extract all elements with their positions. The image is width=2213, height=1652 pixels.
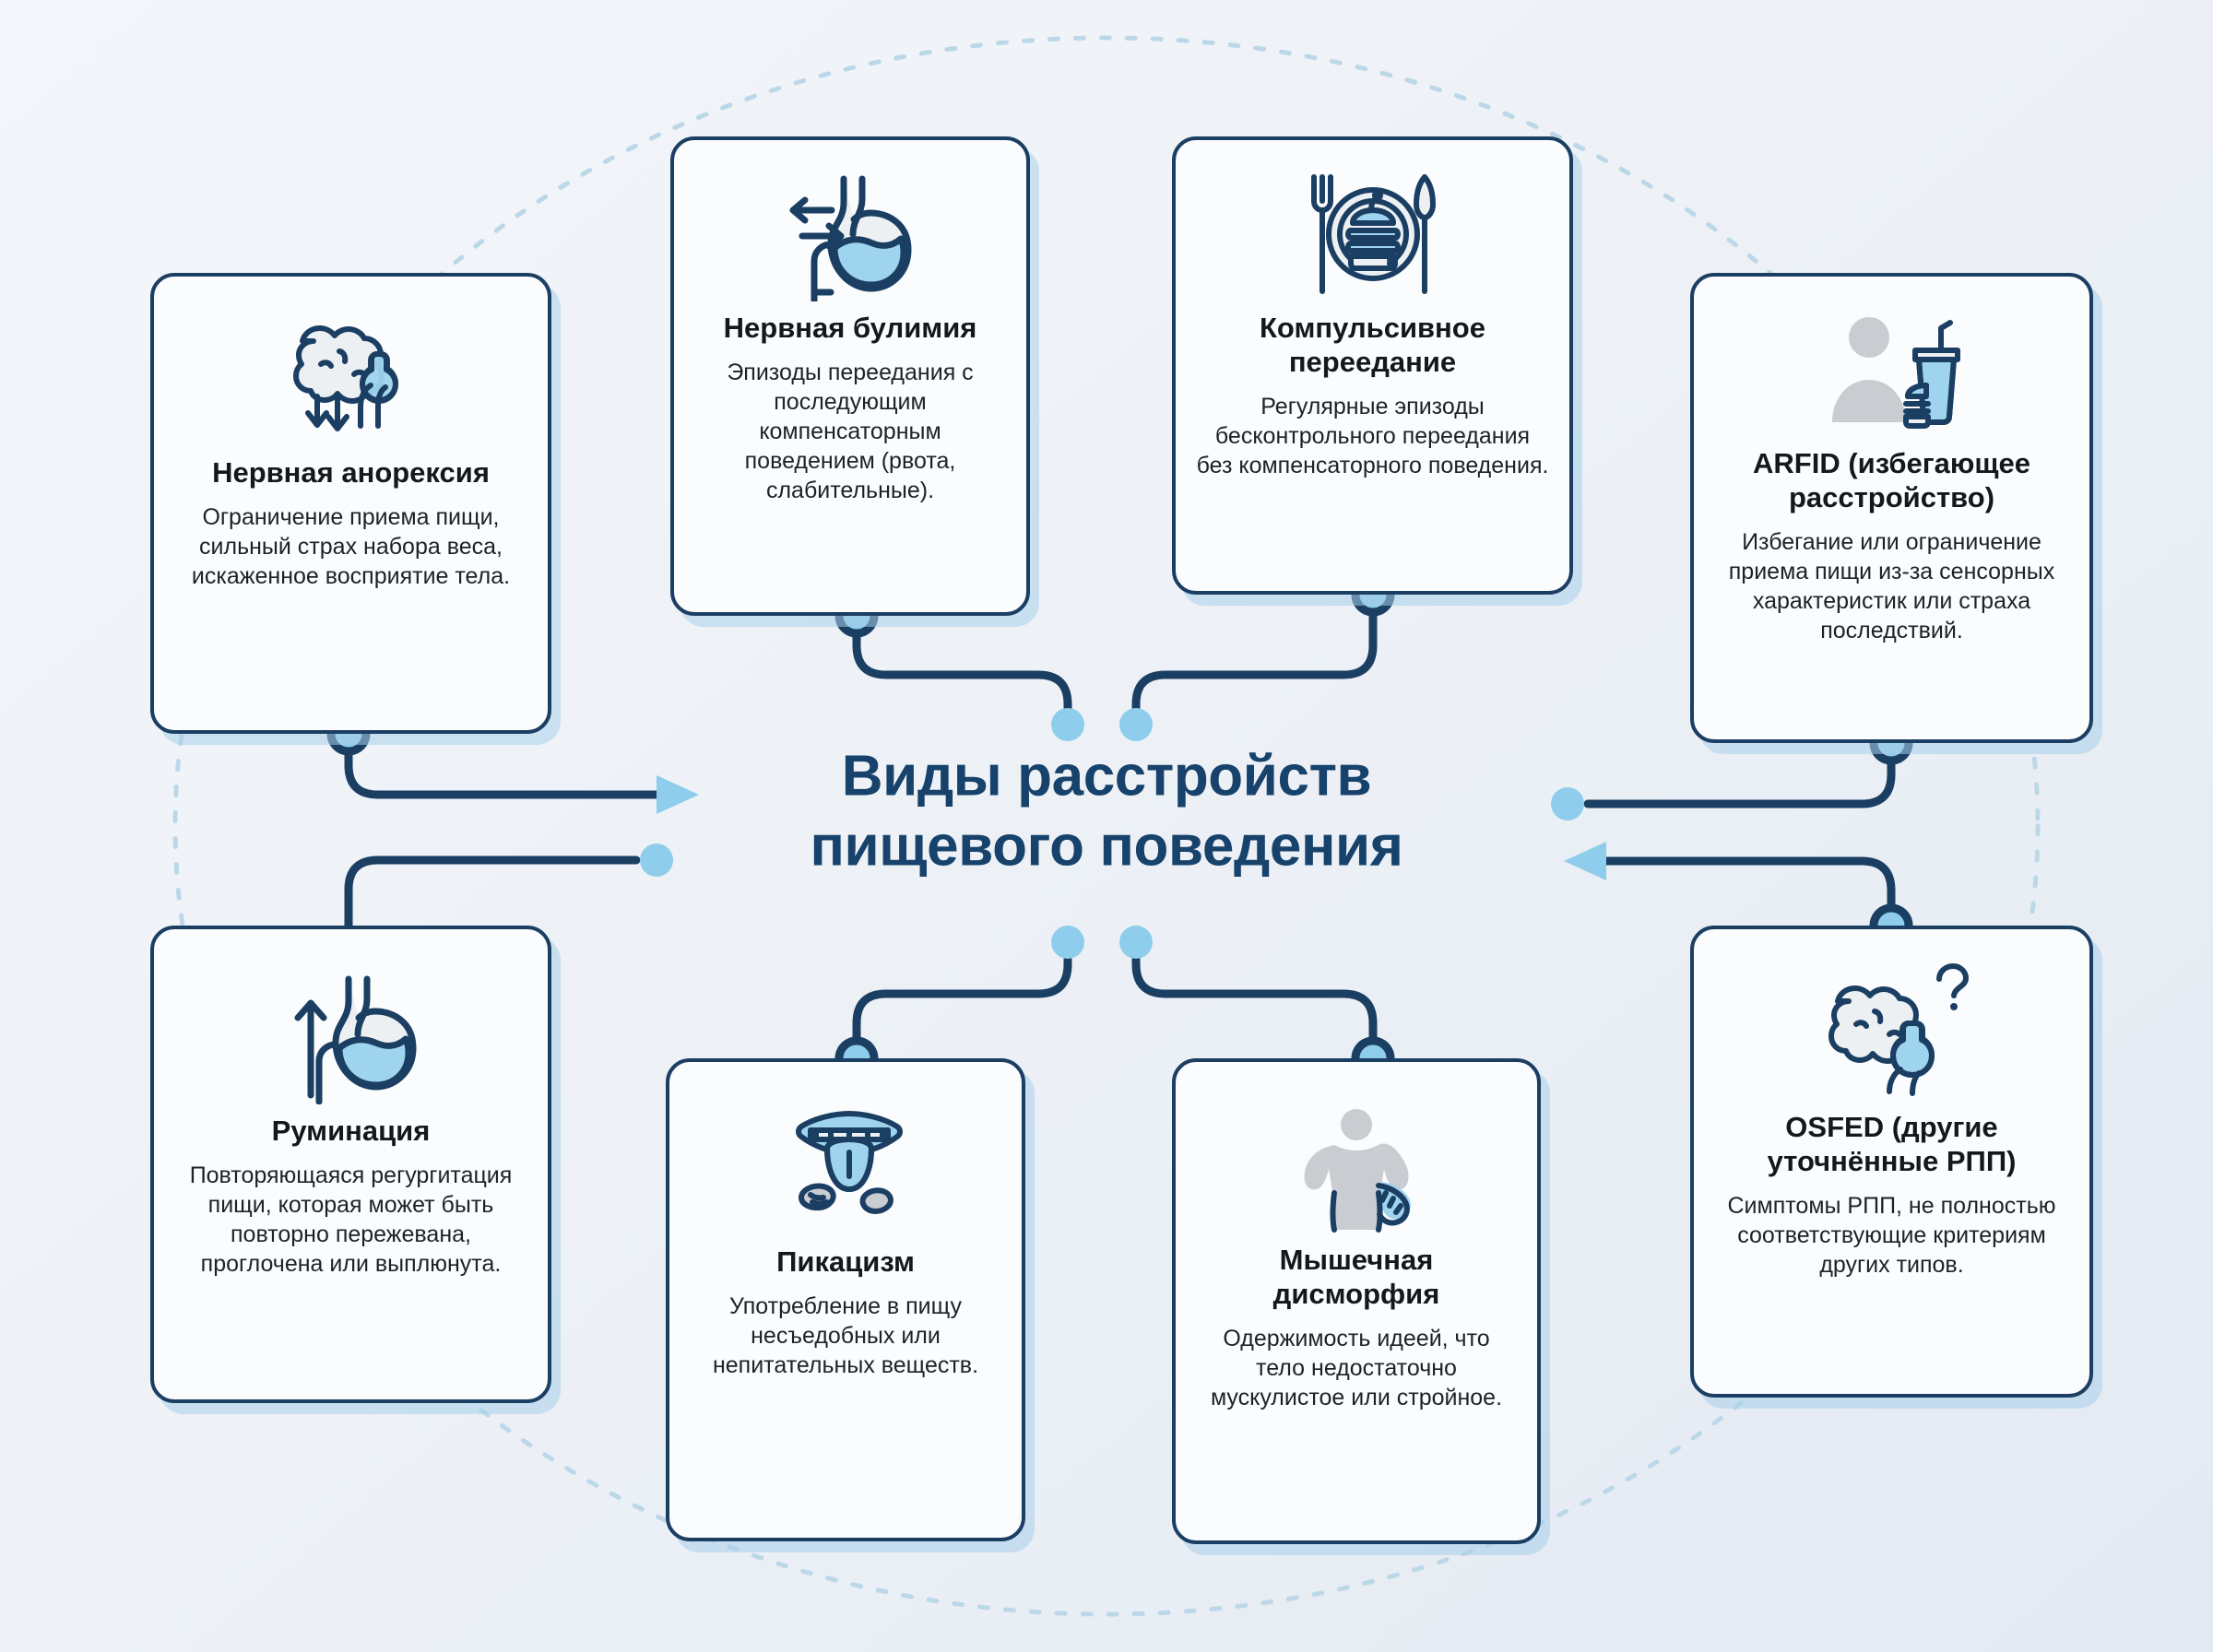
card-muscle[interactable]: Мышечная дисморфия Одержимость идеей, чт…	[1172, 1058, 1541, 1544]
mouth-tongue-stones-icon	[770, 1106, 922, 1235]
card-description: Регулярные эпизоды бесконтрольного перее…	[1196, 392, 1549, 480]
wire-rumination	[349, 860, 636, 926]
wire-arfid	[1588, 743, 1891, 804]
wire-anorexia	[349, 734, 657, 795]
node-rumination-end	[640, 844, 673, 877]
card-description: Повторяющаяся регургитация пищи, которая…	[174, 1161, 527, 1279]
card-title: Компульсивное переедание	[1196, 311, 1549, 379]
card-pica[interactable]: Пикацизм Употребление в пищу несъедобных…	[666, 1058, 1025, 1541]
card-description: Употребление в пищу несъедобных или непи…	[690, 1292, 1001, 1380]
arrowhead-osfed	[1564, 842, 1606, 880]
wire-pica	[857, 957, 1068, 1058]
card-description: Симптомы РПП, не полностью соответствующ…	[1714, 1191, 2069, 1280]
muscle-figure-measuring-tape-icon	[1283, 1104, 1430, 1233]
icon-wrap	[776, 168, 924, 301]
wire-osfed	[1606, 861, 1891, 926]
icon-wrap	[770, 1106, 922, 1235]
stomach-bidirectional-arrows-icon	[776, 168, 924, 301]
card-title: Нервная булимия	[724, 311, 977, 345]
icon-wrap	[1283, 1104, 1430, 1233]
card-rumination[interactable]: Руминация Повторяющаяся регургитация пищ…	[150, 926, 551, 1403]
card-description: Ограничение приема пищи, сильный страх н…	[174, 502, 527, 591]
brain-stomach-question-icon	[1814, 962, 1970, 1101]
card-binge[interactable]: Компульсивное переедание Регулярные эпиз…	[1172, 136, 1573, 595]
wire-muscle	[1136, 957, 1373, 1058]
card-description: Избегание или ограничение приема пищи из…	[1714, 527, 2069, 645]
icon-wrap	[1816, 308, 1968, 437]
center-title-line2: пищевого поведения	[692, 811, 1521, 881]
card-title: ARFID (избегающее расстройство)	[1714, 446, 2069, 514]
person-fastfood-drink-icon	[1816, 308, 1968, 437]
card-description: Эпизоды переедания с последующим компенс…	[694, 358, 1006, 505]
card-arfid[interactable]: ARFID (избегающее расстройство) Избегани…	[1690, 273, 2093, 743]
card-title: Пикацизм	[776, 1245, 915, 1279]
icon-wrap	[273, 308, 430, 446]
icon-wrap	[1299, 168, 1447, 301]
wire-binge	[1136, 595, 1373, 712]
center-title-line1: Виды расстройств	[842, 744, 1372, 808]
card-title: Нервная анорексия	[212, 455, 490, 490]
card-title: Мышечная дисморфия	[1196, 1243, 1517, 1311]
node-bulimia-end	[1051, 708, 1084, 741]
icon-wrap	[278, 966, 425, 1104]
icon-wrap	[1814, 962, 1970, 1101]
wire-bulimia	[857, 616, 1068, 712]
card-osfed[interactable]: OSFED (другие уточнённые РПП) Симптомы Р…	[1690, 926, 2093, 1398]
node-pica-end	[1051, 926, 1084, 959]
center-title: Виды расстройств пищевого поведения	[692, 741, 1521, 880]
infographic-canvas: .wire { fill:none; stroke:#1b3e63; strok…	[0, 0, 2213, 1652]
card-anorexia[interactable]: Нервная анорексия Ограничение приема пищ…	[150, 273, 551, 734]
card-title: Руминация	[272, 1114, 431, 1148]
node-arfid-end	[1551, 787, 1584, 820]
card-bulimia[interactable]: Нервная булимия Эпизоды переедания с пос…	[670, 136, 1030, 616]
card-title: OSFED (другие уточнённые РПП)	[1714, 1110, 2069, 1178]
stomach-up-arrow-icon	[278, 966, 425, 1104]
brain-stomach-down-arrows-icon	[273, 308, 430, 446]
node-muscle-end	[1119, 926, 1153, 959]
card-description: Одержимость идеей, что тело недостаточно…	[1196, 1324, 1517, 1412]
node-binge-end	[1119, 708, 1153, 741]
plate-fork-knife-burger-icon	[1299, 168, 1447, 301]
